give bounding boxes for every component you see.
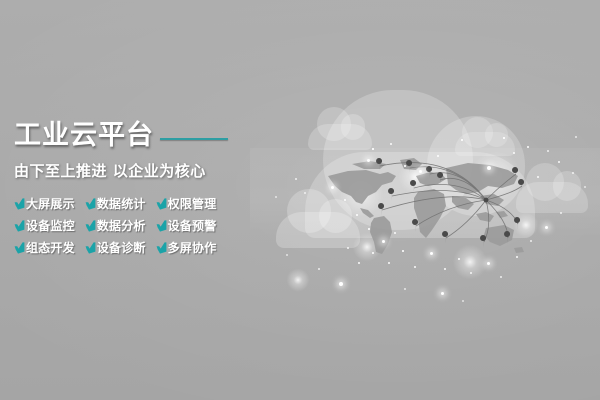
feature-label: 多屏协作 <box>168 239 217 256</box>
feature-label: 组态开发 <box>26 239 75 256</box>
feature-label: 设备监控 <box>26 217 75 234</box>
check-icon <box>85 220 96 232</box>
check-icon <box>156 198 167 210</box>
world-map-icon <box>318 152 530 262</box>
feature-label: 大屏展示 <box>26 195 75 212</box>
feature-label: 数据分析 <box>97 217 146 234</box>
feature-item: 权限管理 <box>156 195 217 212</box>
check-icon <box>14 220 25 232</box>
page-subtitle: 由下至上推进 以企业为核心 <box>14 160 274 181</box>
continents <box>328 158 524 254</box>
check-icon <box>156 242 167 254</box>
check-icon <box>85 242 96 254</box>
feature-item: 大屏展示 <box>14 195 75 212</box>
page-title: 工业云平台 <box>14 122 154 149</box>
feature-label: 权限管理 <box>168 195 217 212</box>
check-icon <box>156 220 167 232</box>
title-accent-rule <box>160 138 228 140</box>
feature-item: 设备监控 <box>14 217 75 234</box>
feature-label: 设备诊断 <box>97 239 146 256</box>
check-icon <box>14 198 25 210</box>
check-icon <box>14 242 25 254</box>
feature-item: 多屏协作 <box>156 239 217 256</box>
feature-item: 设备诊断 <box>85 239 146 256</box>
banner-content: 工业云平台 由下至上推进 以企业为核心 大屏展示数据统计权限管理设备监控数据分析… <box>14 118 274 256</box>
feature-item: 数据统计 <box>85 195 146 212</box>
feature-item: 数据分析 <box>85 217 146 234</box>
check-icon <box>85 198 96 210</box>
feature-list: 大屏展示数据统计权限管理设备监控数据分析设备预警组态开发设备诊断多屏协作 <box>14 195 274 256</box>
feature-label: 设备预警 <box>168 217 217 234</box>
feature-label: 数据统计 <box>97 195 146 212</box>
feature-item: 组态开发 <box>14 239 75 256</box>
industrial-cloud-platform-banner: 工业云平台 由下至上推进 以企业为核心 大屏展示数据统计权限管理设备监控数据分析… <box>0 0 600 400</box>
feature-item: 设备预警 <box>156 217 217 234</box>
title-row: 工业云平台 <box>14 118 274 152</box>
